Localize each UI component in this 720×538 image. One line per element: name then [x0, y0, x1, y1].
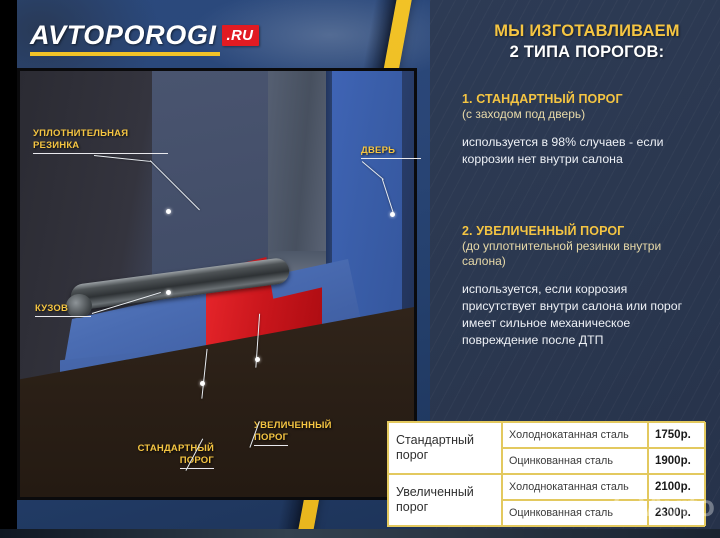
table-cell-material: Холоднокатанная сталь [502, 422, 648, 448]
table-cell-price: 1750р. [648, 422, 706, 448]
callout-standard-line1: СТАНДАРТНЫЙ [138, 443, 214, 454]
leader-dot-door [390, 212, 395, 217]
table-row-name: Увеличенный порог [388, 474, 502, 526]
callout-body-line1: КУЗОВ [35, 303, 91, 317]
logo-underline [30, 52, 220, 56]
callout-seal: УПЛОТНИТЕЛЬНАЯ РЕЗИНКА [33, 128, 168, 154]
section-standard-note: (с заходом под дверь) [462, 107, 712, 122]
callout-standard-line2: ПОРОГ [180, 455, 214, 469]
panel-heading-line2: 2 ТИПА ПОРОГОВ: [462, 43, 712, 62]
callout-seal-line2: РЕЗИНКА [33, 140, 168, 154]
table-cell-price: 1900р. [648, 448, 706, 474]
section-enlarged: 2. УВЕЛИЧЕННЫЙ ПОРОГ (до уплотнительной … [462, 224, 712, 349]
bottom-edge-bar [0, 529, 720, 538]
callout-seal-line1: УПЛОТНИТЕЛЬНАЯ [33, 128, 128, 139]
callout-enlarged: УВЕЛИЧЕННЫЙ ПОРОГ [254, 420, 376, 446]
leader-dot-standard [200, 381, 205, 386]
brand-logo[interactable]: AVTOPOROGI .RU [30, 22, 259, 56]
callout-door-line1: ДВЕРЬ [361, 145, 421, 159]
section-standard-title: 1. СТАНДАРТНЫЙ ПОРОГ [462, 92, 712, 106]
table-cell-material: Оцинкованная сталь [502, 500, 648, 526]
table-cell-price: 2300р. [648, 500, 706, 526]
table-cell-material: Оцинкованная сталь [502, 448, 648, 474]
advertisement-image: AVTOPOROGI .RU УПЛОТ [0, 0, 720, 538]
callout-body: КУЗОВ [35, 303, 91, 317]
leader-dot-enlarged [255, 357, 260, 362]
logo-domain-badge: .RU [222, 25, 260, 46]
panel-heading-line1: МЫ ИЗГОТАВЛИВАЕМ [462, 22, 712, 41]
table-cell-material: Холоднокатанная сталь [502, 474, 648, 500]
callout-standard: СТАНДАРТНЫЙ ПОРОГ [94, 443, 214, 469]
leader-dot-seal [166, 209, 171, 214]
leader-dot-body [166, 290, 171, 295]
section-enlarged-note: (до уплотнительной резинки внутри салона… [462, 239, 686, 269]
section-enlarged-title: 2. УВЕЛИЧЕННЫЙ ПОРОГ [462, 224, 712, 238]
callout-door: ДВЕРЬ [361, 145, 421, 159]
price-table: Стандартный порог Холоднокатанная сталь … [387, 421, 705, 527]
diagram-grey-pillar [268, 71, 330, 267]
table-cell-price: 2100р. [648, 474, 706, 500]
left-black-edge [0, 0, 17, 538]
callout-enlarged-line2: ПОРОГ [254, 432, 288, 446]
section-enlarged-body: используется, если коррозия присутствует… [462, 281, 694, 349]
section-standard: 1. СТАНДАРТНЫЙ ПОРОГ (с заходом под двер… [462, 92, 712, 168]
section-standard-body: используется в 98% случаев - если корроз… [462, 134, 682, 168]
table-row-name: Стандартный порог [388, 422, 502, 474]
logo-wordmark: AVTOPOROGI [30, 22, 217, 49]
panel-heading: МЫ ИЗГОТАВЛИВАЕМ 2 ТИПА ПОРОГОВ: [462, 22, 712, 62]
callout-enlarged-line1: УВЕЛИЧЕННЫЙ [254, 420, 332, 431]
